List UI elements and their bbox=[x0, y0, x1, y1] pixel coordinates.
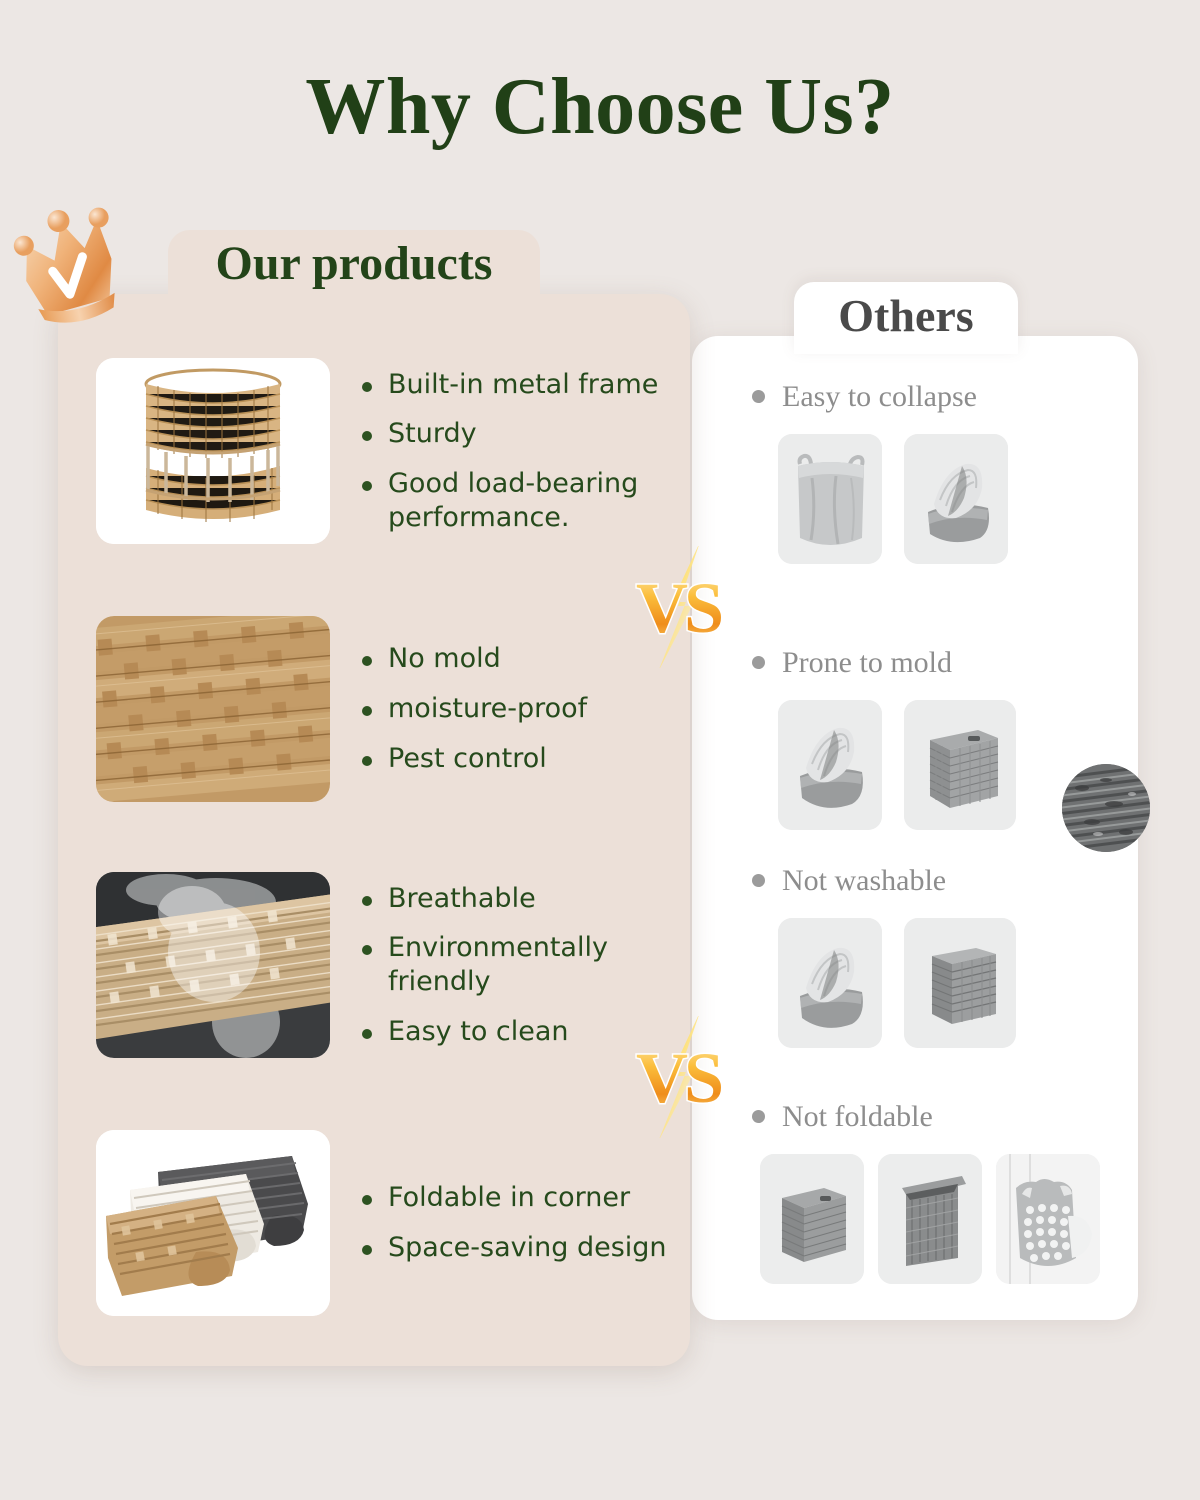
crown-check-icon bbox=[8, 206, 168, 336]
bullet-item: Built-in metal frame bbox=[358, 368, 676, 402]
our-products-tab: Our products bbox=[168, 230, 540, 304]
our-products-row-metal-frame: Built-in metal frame Sturdy Good load-be… bbox=[96, 358, 676, 544]
others-row-images bbox=[742, 700, 1132, 830]
svg-text:VS: VS bbox=[636, 1038, 721, 1118]
others-row-images bbox=[742, 434, 1132, 564]
others-row-images bbox=[742, 918, 1132, 1048]
others-row-label: Not foldable bbox=[742, 1102, 1132, 1132]
svg-text:VS: VS bbox=[636, 568, 721, 648]
page-title: Why Choose Us? bbox=[0, 62, 1200, 153]
bullet-item: Space-saving design bbox=[358, 1231, 676, 1265]
open-rigid-hamper-photo bbox=[878, 1154, 982, 1284]
others-tab-label: Others bbox=[838, 293, 973, 343]
gray-woven-hamper-photo bbox=[904, 918, 1016, 1048]
folded-baskets-stack-photo bbox=[96, 1130, 330, 1316]
others-row-images bbox=[742, 1154, 1132, 1284]
woven-rattan-texture-photo bbox=[96, 616, 330, 802]
our-products-bullet-list: Foldable in corner Space-saving design bbox=[358, 1181, 676, 1265]
collapsing-fabric-hamper-photo bbox=[778, 434, 882, 564]
others-row-label: Prone to mold bbox=[742, 648, 1132, 678]
basket-with-metal-frame-photo bbox=[96, 358, 330, 544]
others-row-easy-to-collapse: Easy to collapse bbox=[742, 382, 1132, 564]
vs-badge-top: VS bbox=[628, 546, 732, 668]
others-tab: Others bbox=[794, 282, 1018, 354]
collapsed-woven-basket-photo bbox=[904, 434, 1008, 564]
our-products-row-foldable: Foldable in corner Space-saving design bbox=[96, 1130, 676, 1316]
bullet-item: Breathable bbox=[358, 882, 676, 916]
gray-woven-hamper-with-lid-photo bbox=[904, 700, 1016, 830]
our-products-row-no-mold: No mold moisture-proof Pest control bbox=[96, 616, 676, 802]
bullet-item: Environmentally friendly bbox=[358, 931, 676, 999]
rigid-hamper-with-lid-photo bbox=[760, 1154, 864, 1284]
collapsed-woven-basket-photo bbox=[778, 700, 882, 830]
mold-closeup-circle bbox=[1062, 764, 1150, 852]
bullet-item: moisture-proof bbox=[358, 692, 676, 726]
others-row-not-foldable: Not foldable bbox=[742, 1102, 1132, 1284]
others-row-label: Easy to collapse bbox=[742, 382, 1132, 412]
vs-badge-bottom: VS bbox=[628, 1016, 732, 1138]
others-row-not-washable: Not washable bbox=[742, 866, 1132, 1048]
bullet-item: Pest control bbox=[358, 742, 676, 776]
others-row-prone-to-mold: Prone to mold bbox=[742, 648, 1132, 830]
perforated-plastic-basket-photo bbox=[996, 1154, 1100, 1284]
our-products-row-breathable: Breathable Environmentally friendly Easy… bbox=[96, 872, 676, 1058]
bullet-item: Sturdy bbox=[358, 417, 676, 451]
others-row-label: Not washable bbox=[742, 866, 1132, 896]
bullet-item: Foldable in corner bbox=[358, 1181, 676, 1215]
our-products-tab-label: Our products bbox=[216, 240, 493, 294]
collapsed-woven-basket-photo bbox=[778, 918, 882, 1048]
breathable-wicker-steam-photo bbox=[96, 872, 330, 1058]
bullet-item: Good load-bearing performance. bbox=[358, 467, 676, 535]
our-products-bullet-list: Built-in metal frame Sturdy Good load-be… bbox=[358, 368, 676, 535]
